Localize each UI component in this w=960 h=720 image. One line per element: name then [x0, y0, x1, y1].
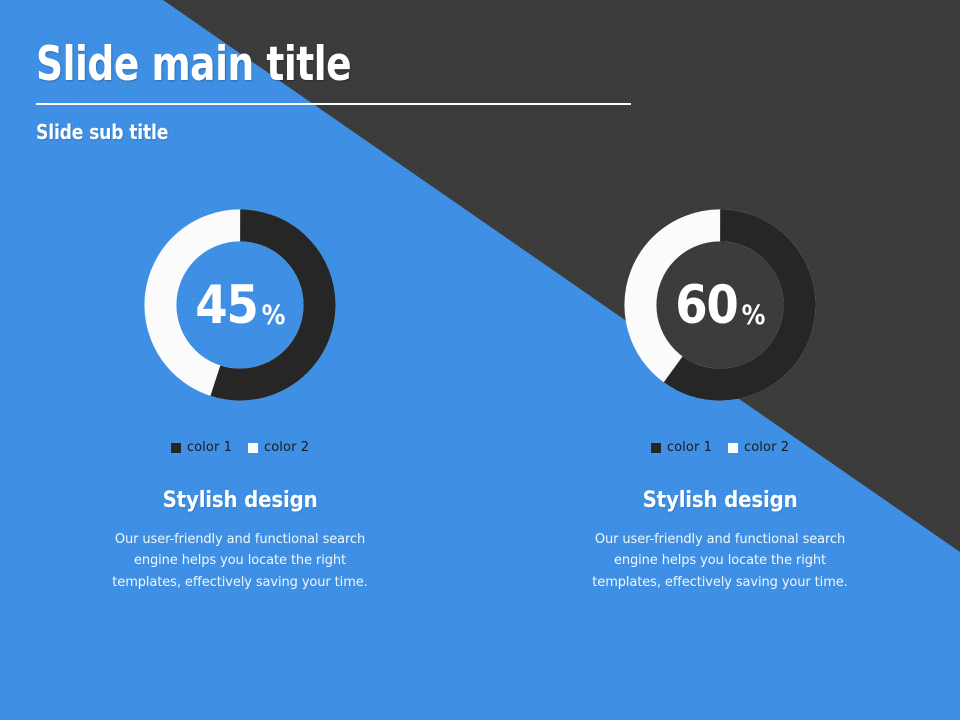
legend-item-color-2: color 2 — [728, 440, 789, 455]
donut-1-value: 45 — [195, 279, 257, 332]
content-columns: 45 % color 1 color 2 Stylish design Our … — [0, 200, 960, 593]
legend-swatch-icon — [171, 443, 181, 453]
caption-heading-1: Stylish design — [163, 488, 318, 513]
column-1: 45 % color 1 color 2 Stylish design Our … — [0, 200, 480, 593]
donut-1-center-label: 45 % — [135, 200, 345, 410]
donut-2-unit: % — [741, 302, 765, 329]
caption-body-2: Our user-friendly and functional search … — [580, 529, 860, 593]
legend-label: color 1 — [187, 440, 232, 455]
legend-swatch-icon — [651, 443, 661, 453]
legend-label: color 1 — [667, 440, 712, 455]
legend-swatch-icon — [248, 443, 258, 453]
caption-heading-2: Stylish design — [643, 488, 798, 513]
donut-chart-2: 60 % — [615, 200, 825, 410]
donut-2-center-label: 60 % — [615, 200, 825, 410]
page-subtitle: Slide sub title — [36, 120, 552, 144]
title-divider — [36, 103, 631, 105]
caption-body-1: Our user-friendly and functional search … — [100, 529, 380, 593]
legend-item-color-1: color 1 — [171, 440, 232, 455]
donut-1-unit: % — [261, 302, 285, 329]
slide-canvas: Slide main title Slide sub title 45 % c — [0, 0, 960, 720]
legend-swatch-icon — [728, 443, 738, 453]
slide-header: Slide main title Slide sub title — [36, 40, 636, 144]
donut-2-value: 60 — [675, 279, 737, 332]
legend-label: color 2 — [744, 440, 789, 455]
page-title: Slide main title — [36, 40, 516, 89]
legend-item-color-2: color 2 — [248, 440, 309, 455]
legend-item-color-1: color 1 — [651, 440, 712, 455]
legend-1: color 1 color 2 — [171, 440, 309, 455]
column-2: 60 % color 1 color 2 Stylish design Our … — [480, 200, 960, 593]
donut-chart-1: 45 % — [135, 200, 345, 410]
legend-label: color 2 — [264, 440, 309, 455]
legend-2: color 1 color 2 — [651, 440, 789, 455]
